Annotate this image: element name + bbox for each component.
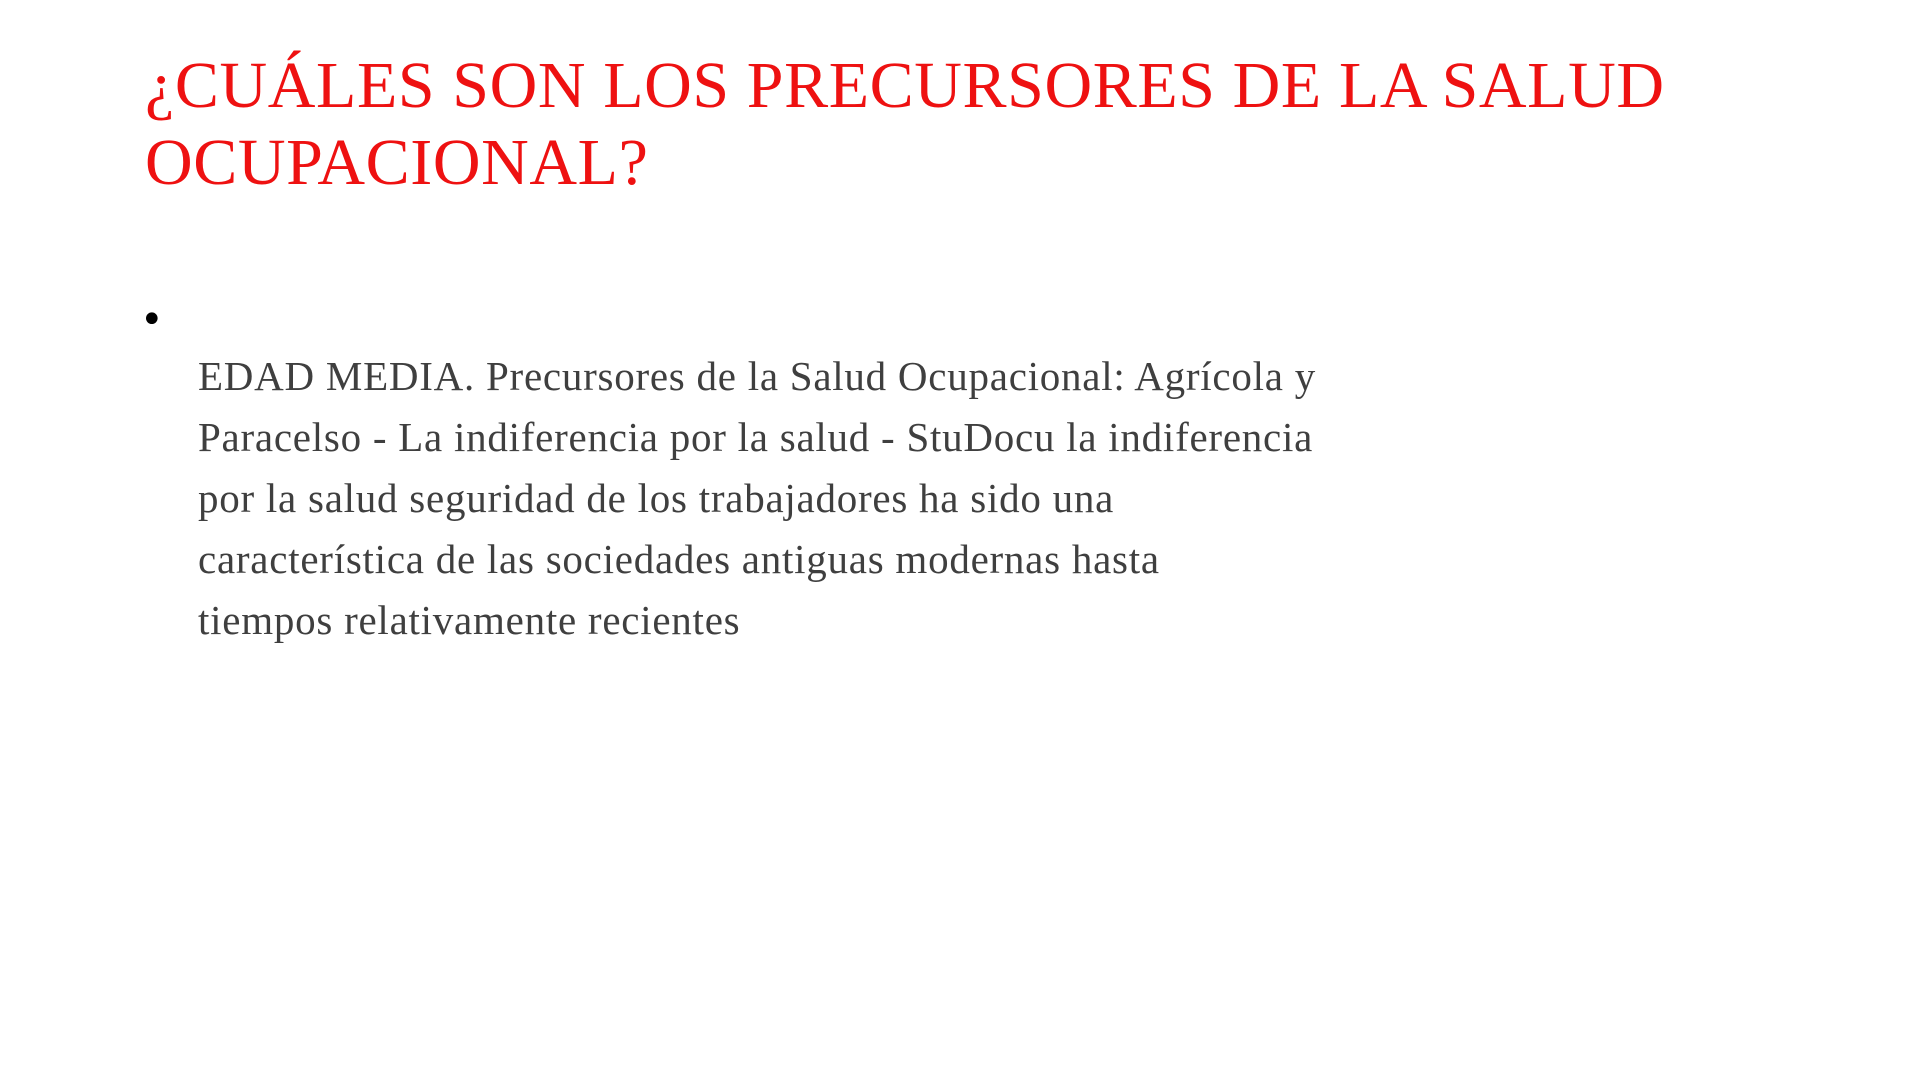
bullet-list-item: • EDAD MEDIA. Precursores de la Salud Oc… <box>140 292 1800 651</box>
bullet-point-icon: • <box>140 292 180 340</box>
slide-content-placeholder: • EDAD MEDIA. Precursores de la Salud Oc… <box>140 292 1800 651</box>
body-line-4: característica de las sociedades antigua… <box>198 529 1800 590</box>
body-line-3: por la salud seguridad de los trabajador… <box>198 468 1800 529</box>
body-paragraph: EDAD MEDIA. Precursores de la Salud Ocup… <box>180 346 1800 651</box>
body-line-1: EDAD MEDIA. Precursores de la Salud Ocup… <box>198 346 1800 407</box>
bullet-empty-first-line <box>180 292 1800 346</box>
body-line-5: tiempos relativamente recientes <box>198 590 1800 651</box>
presentation-slide: ¿CUÁLES SON LOS PRECURSORES DE LA SALUD … <box>0 0 1920 1080</box>
slide-title-line-1: ¿CUÁLES SON LOS PRECURSORES DE <box>145 49 1322 122</box>
body-line-2: Paracelso - La indiferencia por la salud… <box>198 407 1800 468</box>
bullet-item-body: EDAD MEDIA. Precursores de la Salud Ocup… <box>180 292 1800 651</box>
slide-title: ¿CUÁLES SON LOS PRECURSORES DE LA SALUD … <box>145 48 1785 201</box>
